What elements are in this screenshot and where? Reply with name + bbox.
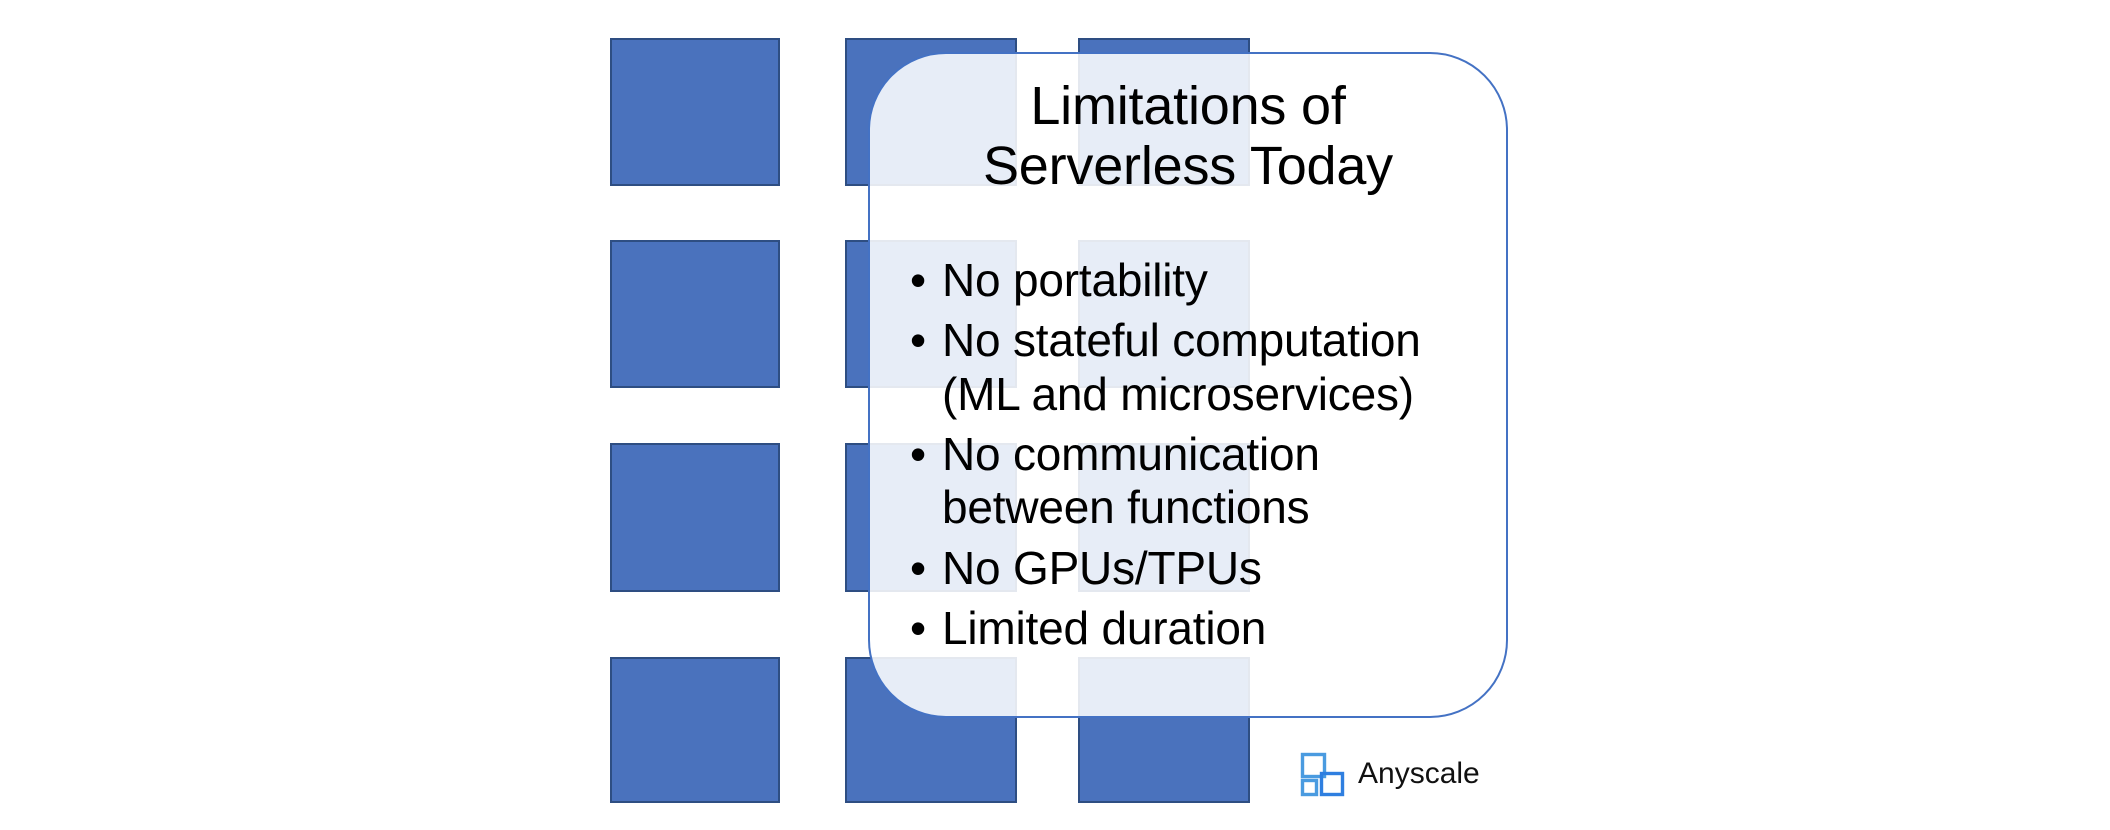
limitations-bullet-list: •No portability•No stateful computation … [898,254,1498,663]
bullet-dot-icon: • [910,314,926,367]
decor-square-r2-c1 [610,240,780,388]
card-title: Limitations of Serverless Today [870,76,1506,197]
bullet-dot-icon: • [910,254,926,307]
card-title-line-1: Limitations of [870,76,1506,136]
card-title-line-2: Serverless Today [870,136,1506,196]
decor-square-r1-c1 [610,38,780,186]
decor-square-r3-c1 [610,443,780,592]
bullet-item: •No portability [898,254,1498,307]
limitations-card: Limitations of Serverless Today •No port… [868,52,1508,718]
anyscale-logo-text: Anyscale [1358,759,1480,791]
bullet-item: •No stateful computation (ML and microse… [898,314,1498,421]
decor-square-r4-c1 [610,657,780,803]
anyscale-logo: Anyscale [1300,752,1480,798]
anyscale-logo-mark [1300,752,1346,798]
bullet-label: No communication between functions [942,428,1320,533]
bullet-dot-icon: • [910,602,926,655]
bullet-dot-icon: • [910,428,926,481]
bullet-item: •No GPUs/TPUs [898,542,1498,595]
bullet-item: •No communication between functions [898,428,1498,535]
slide-canvas: Limitations of Serverless Today •No port… [0,0,2110,830]
bullet-label: No portability [942,254,1208,306]
bullet-label: No stateful computation (ML and microser… [942,314,1421,419]
bullet-dot-icon: • [910,542,926,595]
bullet-label: Limited duration [942,602,1266,654]
bullet-item: •Limited duration [898,602,1498,655]
bullet-label: No GPUs/TPUs [942,542,1262,594]
